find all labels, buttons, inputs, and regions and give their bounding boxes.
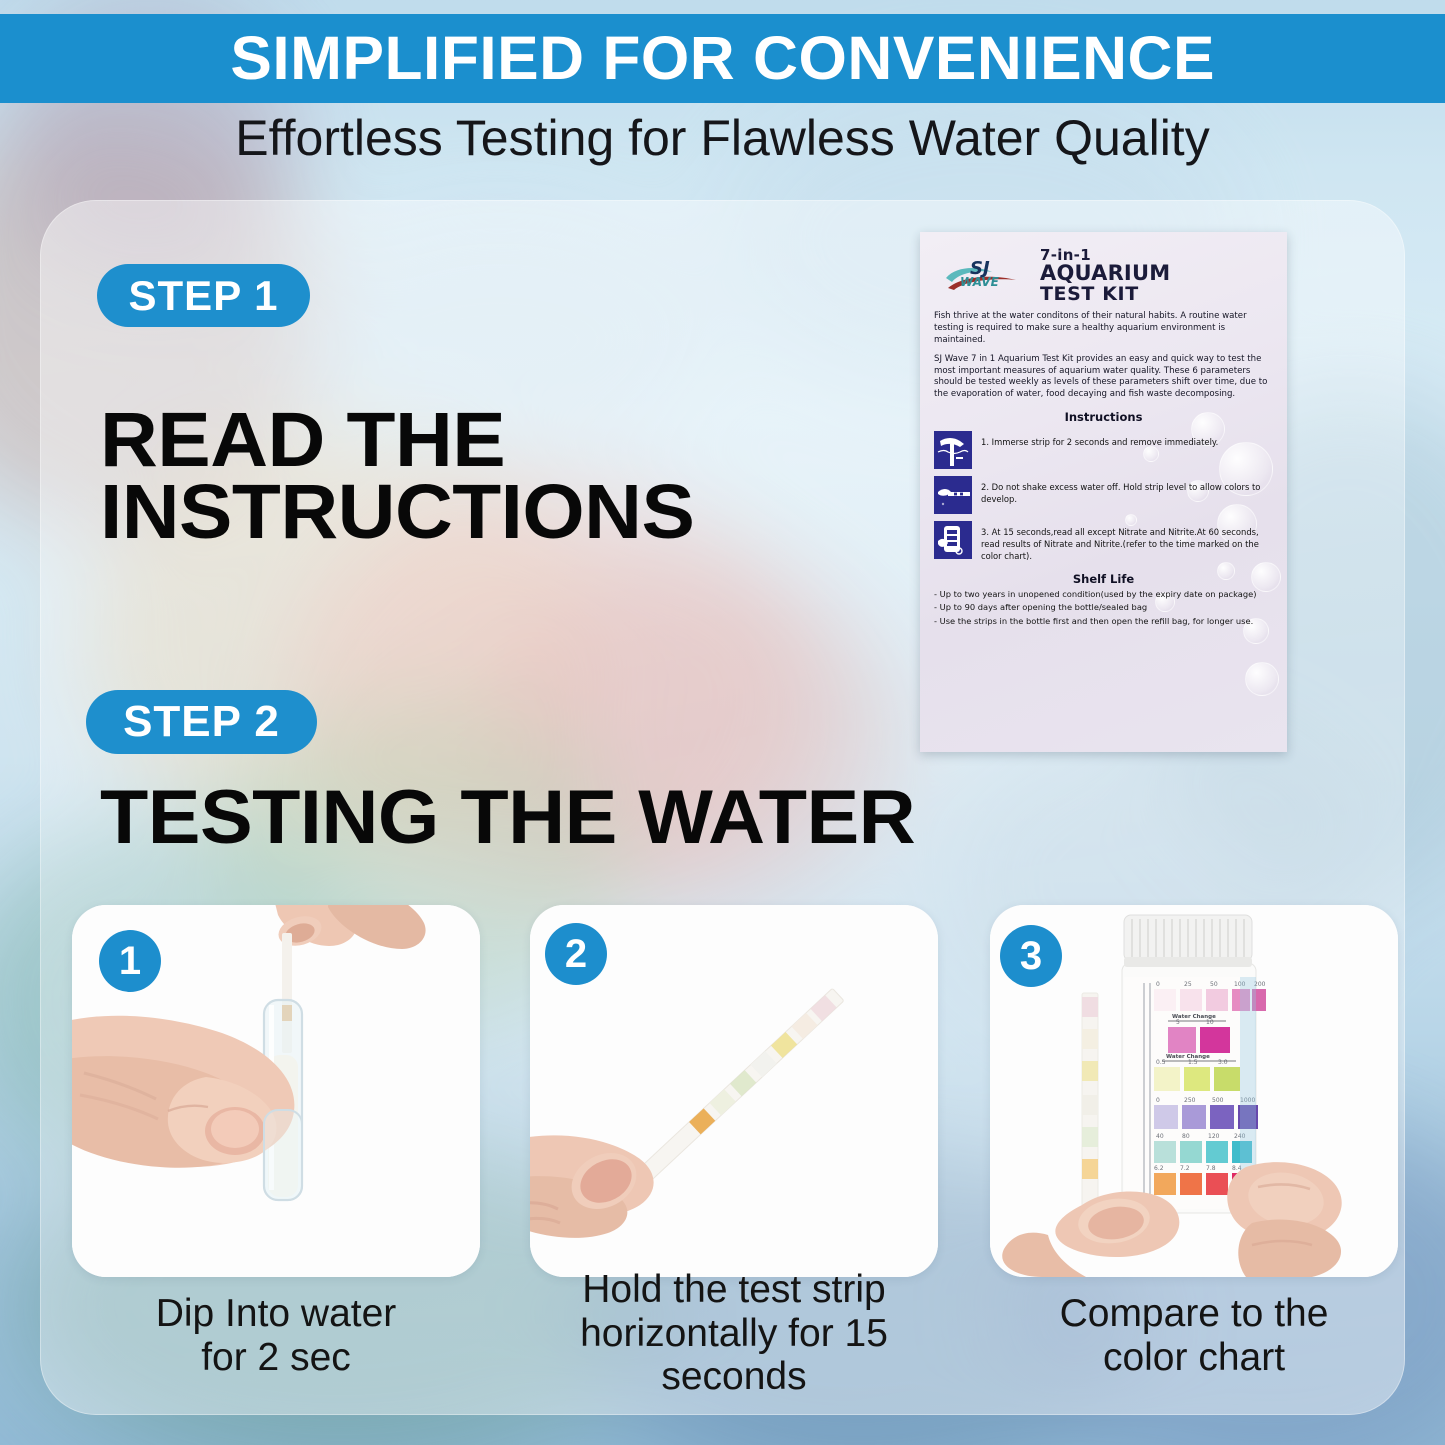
panel-number-2: 2 — [545, 923, 607, 985]
svg-text:120: 120 — [1208, 1133, 1220, 1140]
caption-2-line3: seconds — [522, 1355, 946, 1399]
step-2-heading: TESTING THE WATER — [100, 782, 915, 853]
hand-dipping-strip-icon — [934, 431, 972, 469]
instructions-title: Instructions — [934, 410, 1273, 424]
svg-text:Water Change: Water Change — [1172, 1014, 1216, 1020]
svg-text:500: 500 — [1212, 1097, 1224, 1104]
instruction-row: 1. Immerse strip for 2 seconds and remov… — [934, 431, 1273, 469]
svg-text:0.5: 0.5 — [1156, 1059, 1166, 1066]
svg-text:80: 80 — [1182, 1133, 1190, 1140]
svg-text:0: 0 — [1156, 1097, 1160, 1104]
kit-title-line2: AQUARIUM — [1040, 263, 1170, 284]
instruction-body-3: At 15 seconds,read all except Nitrate an… — [981, 527, 1259, 561]
shelf-life-item: - Use the strips in the bottle first and… — [934, 616, 1273, 628]
shelf-life-title: Shelf Life — [934, 572, 1273, 586]
panel-caption-3: Compare to the color chart — [986, 1292, 1402, 1379]
svg-text:50: 50 — [1210, 981, 1218, 988]
caption-1-line1: Dip Into water — [72, 1292, 480, 1336]
panel-caption-1: Dip Into water for 2 sec — [72, 1292, 480, 1379]
instruction-body-1: Immerse strip for 2 seconds and remove i… — [992, 437, 1219, 447]
svg-text:25: 25 — [1184, 981, 1192, 988]
shelf-life-list: - Up to two years in unopened condition(… — [934, 589, 1273, 628]
hand-comparing-chart-icon — [934, 521, 972, 559]
caption-2-line1: Hold the test strip — [522, 1268, 946, 1312]
caption-2-line2: horizontally for 15 — [522, 1312, 946, 1356]
instruction-leaflet-card: SJ WAVE 7-in-1 AQUARIUM TEST KIT Fish th… — [920, 232, 1287, 752]
svg-text:7.8: 7.8 — [1206, 1165, 1216, 1172]
step-2-label: STEP 2 — [123, 697, 280, 747]
svg-text:7.2: 7.2 — [1180, 1165, 1190, 1172]
svg-text:0: 0 — [1156, 981, 1160, 988]
instruction-num-2: 2. — [981, 482, 989, 492]
step-1-label: STEP 1 — [129, 272, 279, 320]
card-paragraph-1: Fish thrive at the water conditons of th… — [934, 311, 1273, 347]
caption-3-line1: Compare to the — [986, 1292, 1402, 1336]
step-1-heading: READ THE INSTRUCTIONS — [100, 404, 694, 549]
step-2-badge: STEP 2 — [86, 690, 317, 754]
svg-text:5: 5 — [1176, 1019, 1180, 1026]
shelf-life-item: - Up to two years in unopened condition(… — [934, 589, 1273, 601]
step-1-badge: STEP 1 — [97, 264, 310, 327]
step-1-heading-line1: READ THE — [100, 404, 694, 476]
instruction-text-1: 1. Immerse strip for 2 seconds and remov… — [981, 431, 1218, 449]
svg-text:250: 250 — [1184, 1097, 1196, 1104]
sj-wave-logo: SJ WAVE — [944, 254, 1030, 298]
svg-text:10: 10 — [1206, 1019, 1214, 1026]
panel-number-1: 1 — [99, 930, 161, 992]
card-header: SJ WAVE 7-in-1 AQUARIUM TEST KIT — [934, 248, 1273, 304]
hand-holding-strip-level-icon — [934, 476, 972, 514]
instruction-text-2: 2. Do not shake excess water off. Hold s… — [981, 476, 1273, 506]
svg-text:3.0: 3.0 — [1218, 1059, 1228, 1066]
panel-number-3: 3 — [1000, 925, 1062, 987]
card-paragraph-2: SJ Wave 7 in 1 Aquarium Test Kit provide… — [934, 354, 1273, 401]
svg-text:6.2: 6.2 — [1154, 1165, 1164, 1172]
instruction-num-1: 1. — [981, 437, 989, 447]
svg-text:40: 40 — [1156, 1133, 1164, 1140]
instruction-row: 2. Do not shake excess water off. Hold s… — [934, 476, 1273, 514]
panel-caption-2: Hold the test strip horizontally for 15 … — [522, 1268, 946, 1399]
caption-3-line2: color chart — [986, 1336, 1402, 1380]
step-1-heading-line2: INSTRUCTIONS — [100, 476, 694, 548]
svg-text:Water Change: Water Change — [1166, 1054, 1210, 1060]
kit-title-line3: TEST KIT — [1040, 285, 1170, 304]
kit-title: 7-in-1 AQUARIUM TEST KIT — [1040, 248, 1170, 304]
svg-text:1.5: 1.5 — [1188, 1059, 1198, 1066]
instruction-text-3: 3. At 15 seconds,read all except Nitrate… — [981, 521, 1273, 563]
instruction-num-3: 3. — [981, 527, 989, 537]
caption-1-line2: for 2 sec — [72, 1336, 480, 1380]
shelf-life-item: - Up to 90 days after opening the bottle… — [934, 602, 1273, 614]
svg-text:WAVE: WAVE — [960, 275, 1000, 289]
instruction-body-2: Do not shake excess water off. Hold stri… — [981, 482, 1260, 504]
instruction-row: 3. At 15 seconds,read all except Nitrate… — [934, 521, 1273, 563]
